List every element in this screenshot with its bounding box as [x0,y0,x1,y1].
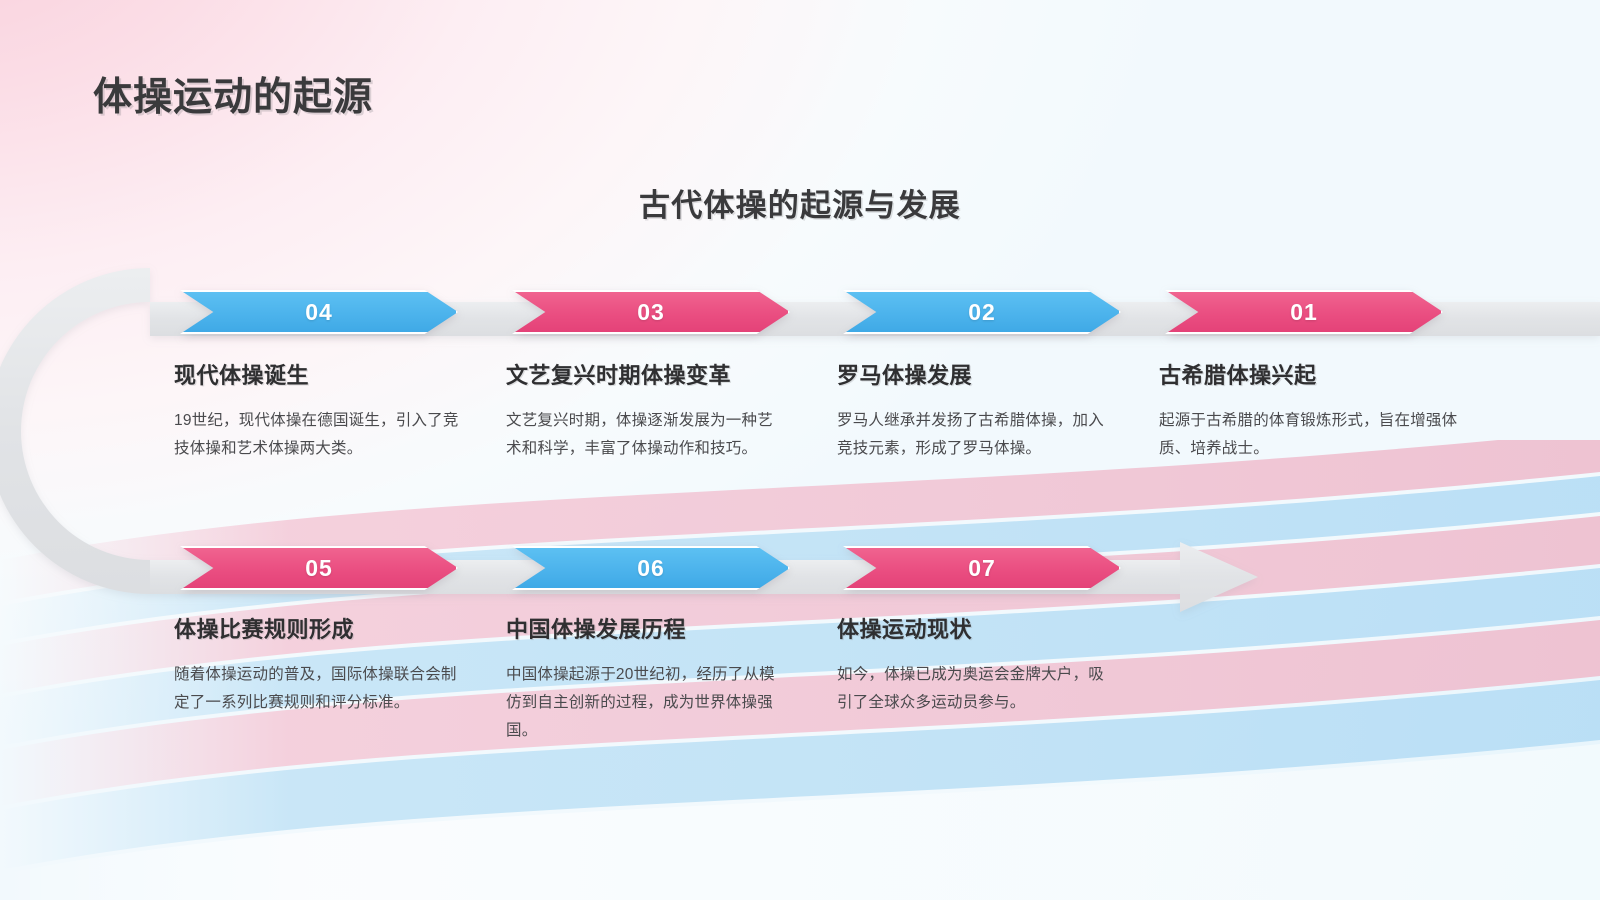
section-title: 古代体操的起源与发展 [0,180,1600,225]
chevron-07-number: 07 [968,555,996,582]
chevron-01-number: 01 [1290,299,1318,326]
card-01: 古希腊体操兴起 起源于古希腊的体育锻炼形式，旨在增强体质、培养战士。 [1159,358,1459,463]
card-04: 现代体操诞生 19世纪，现代体操在德国诞生，引入了竞技体操和艺术体操两大类。 [174,358,464,463]
card-05-desc: 随着体操运动的普及，国际体操联合会制定了一系列比赛规则和评分标准。 [174,661,460,717]
page-title: 体操运动的起源 [93,66,373,122]
card-06-desc: 中国体操起源于20世纪初，经历了从模仿到自主创新的过程，成为世界体操强国。 [506,661,788,745]
card-03-title: 文艺复兴时期体操变革 [506,358,784,390]
chevron-06[interactable]: 06 [512,546,790,590]
chevron-04-number: 04 [305,299,333,326]
chevron-02[interactable]: 02 [843,290,1121,334]
card-05-title: 体操比赛规则形成 [174,612,460,644]
chevron-06-number: 06 [637,555,665,582]
card-07-title: 体操运动现状 [837,612,1117,644]
chevron-05-number: 05 [305,555,333,582]
card-01-desc: 起源于古希腊的体育锻炼形式，旨在增强体质、培养战士。 [1159,407,1459,463]
card-03-desc: 文艺复兴时期，体操逐渐发展为一种艺术和科学，丰富了体操动作和技巧。 [506,407,784,463]
chevron-02-number: 02 [968,299,996,326]
chevron-03-number: 03 [637,299,665,326]
card-01-title: 古希腊体操兴起 [1159,358,1459,390]
chevron-01[interactable]: 01 [1165,290,1443,334]
card-04-title: 现代体操诞生 [174,358,464,390]
chevron-05[interactable]: 05 [180,546,458,590]
card-06: 中国体操发展历程 中国体操起源于20世纪初，经历了从模仿到自主创新的过程，成为世… [506,612,788,745]
card-02-desc: 罗马人继承并发扬了古希腊体操，加入竞技元素，形成了罗马体操。 [837,407,1115,463]
card-07: 体操运动现状 如今，体操已成为奥运会金牌大户，吸引了全球众多运动员参与。 [837,612,1117,717]
chevron-04[interactable]: 04 [180,290,458,334]
card-07-desc: 如今，体操已成为奥运会金牌大户，吸引了全球众多运动员参与。 [837,661,1117,717]
slide-root: 体操运动的起源 古代体操的起源与发展 04 [0,0,1600,900]
card-03: 文艺复兴时期体操变革 文艺复兴时期，体操逐渐发展为一种艺术和科学，丰富了体操动作… [506,358,784,463]
chevron-07[interactable]: 07 [843,546,1121,590]
card-02-title: 罗马体操发展 [837,358,1115,390]
card-05: 体操比赛规则形成 随着体操运动的普及，国际体操联合会制定了一系列比赛规则和评分标… [174,612,460,717]
card-06-title: 中国体操发展历程 [506,612,788,644]
chevron-03[interactable]: 03 [512,290,790,334]
card-02: 罗马体操发展 罗马人继承并发扬了古希腊体操，加入竞技元素，形成了罗马体操。 [837,358,1115,463]
card-04-desc: 19世纪，现代体操在德国诞生，引入了竞技体操和艺术体操两大类。 [174,407,464,463]
